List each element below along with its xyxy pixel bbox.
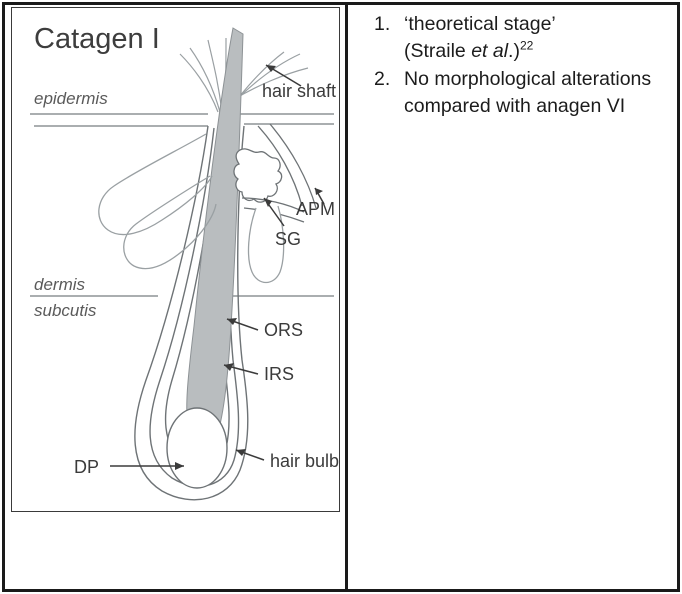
note-citation-prefix: (Straile [404, 40, 471, 62]
hair-shaft-shape [187, 28, 243, 444]
figure-panel-page: Catagen I epidermis dermis subcutis [0, 0, 682, 594]
note-citation-suffix: .) [508, 40, 520, 62]
layer-label-dermis: dermis [34, 275, 86, 294]
list-item: 2. No morphological alterations compared… [361, 66, 667, 120]
annotation-label-dp: DP [74, 457, 99, 477]
note-line-1: ‘theoretical stage’ [404, 13, 556, 35]
sebaceous-gland-shape [234, 149, 282, 202]
annotation-label-ors: ORS [264, 320, 303, 340]
diagram-image-box: Catagen I epidermis dermis subcutis [11, 7, 340, 512]
annotation-label-sg: SG [275, 229, 301, 249]
list-item: 1. ‘theoretical stage’ (Straile et al.)2… [361, 11, 667, 65]
layer-label-epidermis: epidermis [34, 89, 108, 108]
list-marker: 2. [374, 66, 390, 93]
dermal-papilla-shape [167, 408, 227, 488]
notes-list: 1. ‘theoretical stage’ (Straile et al.)2… [361, 11, 667, 120]
annotation-label-hair-bulb: hair bulb [270, 451, 339, 471]
note-citation-superscript: 22 [520, 39, 533, 53]
annotation-label-irs: IRS [264, 364, 294, 384]
note-citation-italic: et al [471, 40, 508, 62]
hair-follicle-diagram: Catagen I epidermis dermis subcutis [12, 8, 339, 511]
list-marker: 1. [374, 11, 390, 38]
club-hair-lobes [99, 134, 216, 269]
annotation-label-hair-shaft: hair shaft [262, 81, 336, 101]
annotation-label-apm: APM [296, 199, 335, 219]
column-divider [345, 2, 348, 592]
note-text: No morphological alterations compared wi… [404, 68, 651, 117]
layer-label-subcutis: subcutis [34, 301, 97, 320]
diagram-cell: Catagen I epidermis dermis subcutis [5, 5, 345, 589]
notes-cell: 1. ‘theoretical stage’ (Straile et al.)2… [351, 5, 677, 589]
diagram-title: Catagen I [34, 23, 160, 55]
